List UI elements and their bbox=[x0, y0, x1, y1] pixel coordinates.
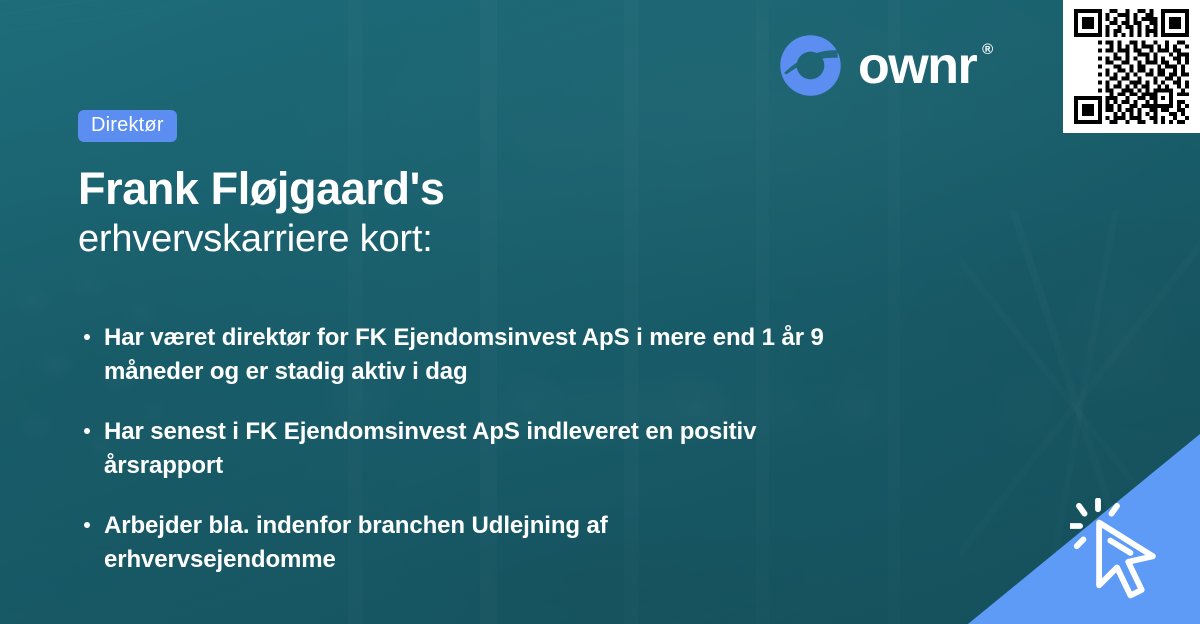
click-cursor-icon bbox=[1070, 498, 1182, 610]
list-item: Arbejder bla. indenfor branchen Udlejnin… bbox=[78, 509, 838, 577]
headline-person-name: Frank Fløjgaard's bbox=[78, 164, 978, 214]
role-badge: Direktør bbox=[78, 110, 177, 142]
ownr-swirl-mark-icon bbox=[779, 34, 842, 97]
ownr-wordmark-text: ownr bbox=[858, 37, 976, 95]
list-item: Har senest i FK Ejendomsinvest ApS indle… bbox=[78, 415, 838, 483]
career-facts-list: Har været direktør for FK Ejendomsinvest… bbox=[78, 321, 978, 577]
ownr-wordmark: ownr ® bbox=[858, 40, 976, 92]
content-block: Direktør Frank Fløjgaard's erhvervskarri… bbox=[78, 110, 978, 577]
ownr-logo[interactable]: ownr ® bbox=[779, 34, 976, 97]
list-item: Har været direktør for FK Ejendomsinvest… bbox=[78, 321, 838, 389]
headline-subtitle: erhvervskarriere kort: bbox=[78, 216, 978, 262]
qr-code-matrix bbox=[1072, 9, 1191, 124]
page-title: Frank Fløjgaard's erhvervskarriere kort: bbox=[78, 164, 978, 263]
qr-code[interactable] bbox=[1063, 0, 1200, 133]
registered-trademark-symbol: ® bbox=[982, 42, 993, 57]
career-card-canvas: ownr ® Direktør Frank Fløjgaard's erhver… bbox=[0, 0, 1200, 624]
